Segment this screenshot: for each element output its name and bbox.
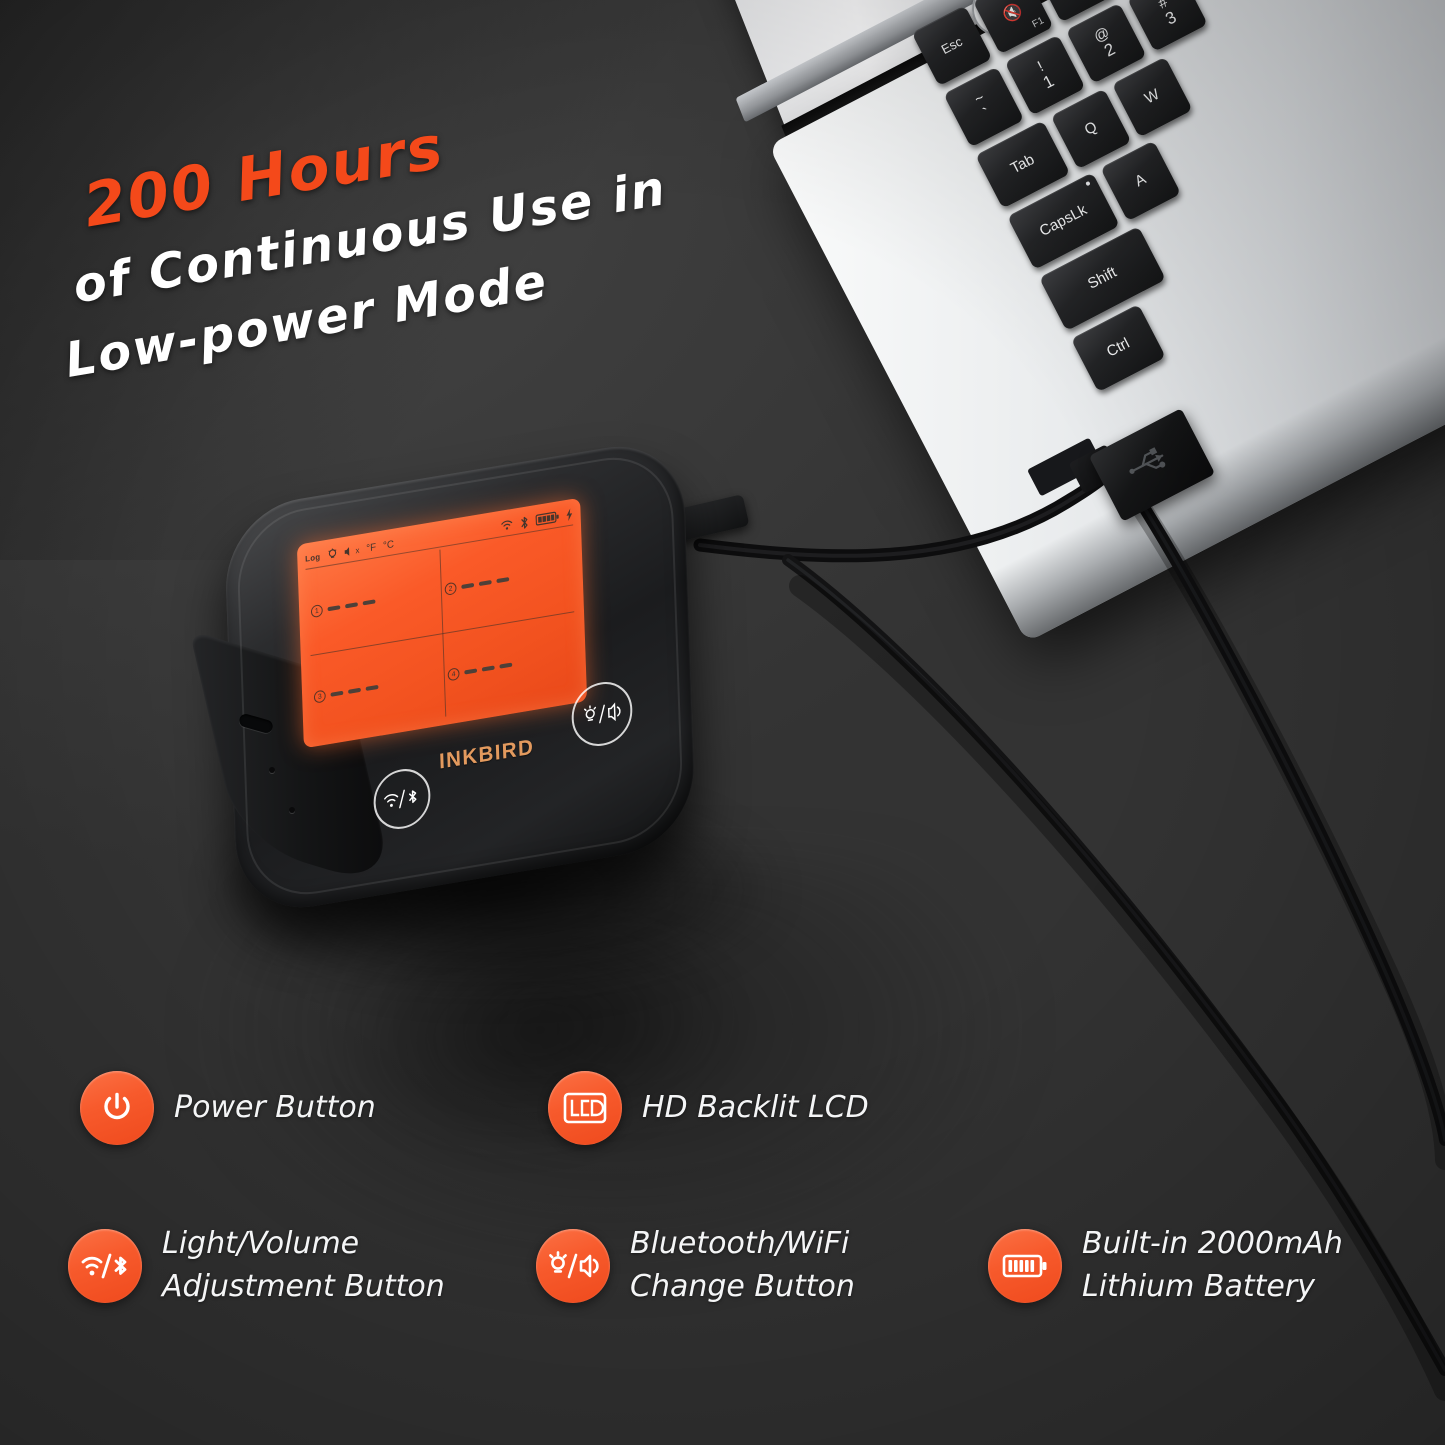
feature-bluetooth-wifi-label: Bluetooth/WiFi Change Button	[630, 1223, 855, 1308]
feature-power-label: Power Button	[174, 1087, 376, 1130]
feature-bluetooth-wifi-change: Bluetooth/WiFi Change Button	[536, 1223, 855, 1308]
lcd-screen-icon	[548, 1071, 622, 1145]
bulb-slash-speaker-icon	[536, 1229, 610, 1303]
feature-light-volume-label: Light/Volume Adjustment Button	[162, 1223, 445, 1308]
feature-hd-backlit-lcd: HD Backlit LCD	[548, 1071, 869, 1145]
feature-lcd-label: HD Backlit LCD	[642, 1087, 869, 1130]
battery-full-icon	[988, 1229, 1062, 1303]
power-button-icon	[80, 1071, 154, 1145]
feature-light-volume-adjustment: Light/Volume Adjustment Button	[68, 1223, 445, 1308]
feature-battery-label: Built-in 2000mAh Lithium Battery	[1082, 1223, 1343, 1308]
product-marketing-image: Esc 🔇 F1 🔉 F2 🔊 F3 ~ `	[0, 0, 1445, 1445]
wifi-slash-bluetooth-icon	[68, 1229, 142, 1303]
feature-battery: Built-in 2000mAh Lithium Battery	[988, 1223, 1343, 1308]
feature-power-button: Power Button	[80, 1071, 376, 1145]
